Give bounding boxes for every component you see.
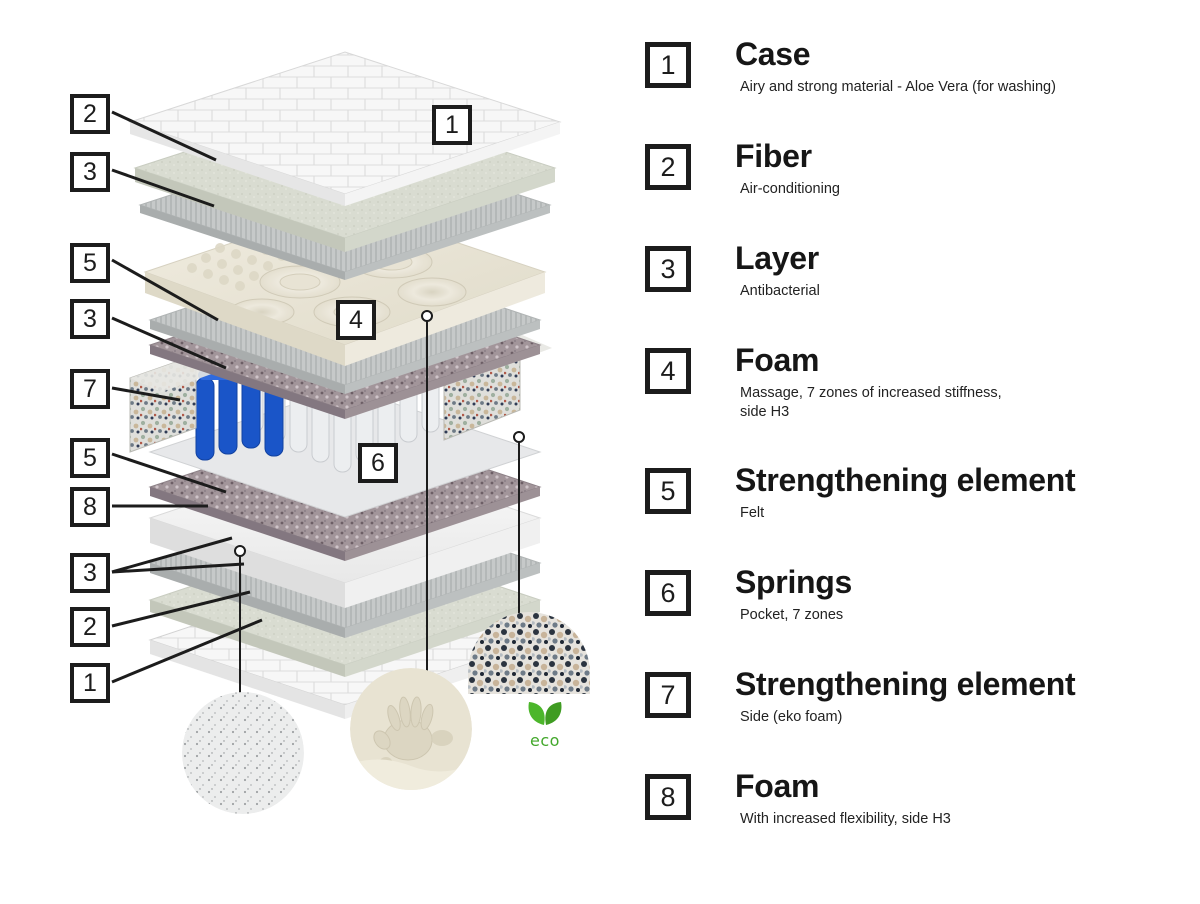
legend-number-4: 4 xyxy=(645,348,691,394)
legend-sub-strengthening-side: Side (eko foam) xyxy=(740,708,1190,728)
callout-5-felt-upper: 5 xyxy=(70,243,110,283)
legend-title-strengthening-side: Strengthening element xyxy=(735,668,1190,702)
legend-item-fiber[interactable]: 2 Fiber Air-conditioning xyxy=(645,140,1190,232)
callout-5-felt-lower: 5 xyxy=(70,438,110,478)
callout-3-layer-top: 3 xyxy=(70,152,110,192)
legend-title-fiber: Fiber xyxy=(735,140,1190,174)
callout-1-case-bottom: 1 xyxy=(70,663,110,703)
legend-sub-foam-massage: Massage, 7 zones of increased stiffness,… xyxy=(740,384,1190,423)
legend-item-foam-massage[interactable]: 4 Foam Massage, 7 zones of increased sti… xyxy=(645,344,1190,454)
legend-list: 1 Case Airy and strong material - Aloe V… xyxy=(645,38,1190,872)
callout-3-layer-upper: 3 xyxy=(70,299,110,339)
legend-sub-layer: Antibacterial xyxy=(740,282,1190,302)
legend-sub-case: Airy and strong material - Aloe Vera (fo… xyxy=(740,78,1190,98)
legend-title-foam-massage: Foam xyxy=(735,344,1190,378)
legend-number-2: 2 xyxy=(645,144,691,190)
callout-2-fiber-top: 2 xyxy=(70,94,110,134)
callout-3-layer-lower: 3 xyxy=(70,553,110,593)
legend-item-case[interactable]: 1 Case Airy and strong material - Aloe V… xyxy=(645,38,1190,130)
callout-8-foam-white: 8 xyxy=(70,487,110,527)
callout-4-foam-inline: 4 xyxy=(336,300,376,340)
legend-title-foam-flexible: Foam xyxy=(735,770,1190,804)
detail-memory-foam-handprint-swatch xyxy=(350,668,472,790)
legend-sub-fiber: Air-conditioning xyxy=(740,180,1190,200)
legend-number-8: 8 xyxy=(645,774,691,820)
eco-leaf-icon xyxy=(523,700,567,726)
mattress-exploded-illustration: eco 2 3 5 3 7 5 8 3 2 1 1 4 6 xyxy=(0,0,630,899)
legend-number-6: 6 xyxy=(645,570,691,616)
legend-item-strengthening-felt[interactable]: 5 Strengthening element Felt xyxy=(645,464,1190,556)
callout-2-fiber-bottom: 2 xyxy=(70,607,110,647)
legend-sub-foam-flexible: With increased flexibility, side H3 xyxy=(740,810,1190,830)
legend-item-strengthening-side[interactable]: 7 Strengthening element Side (eko foam) xyxy=(645,668,1190,760)
legend-sub-strengthening-felt: Felt xyxy=(740,504,1190,524)
legend-number-7: 7 xyxy=(645,672,691,718)
callout-1-case-inline: 1 xyxy=(432,105,472,145)
callout-7-eko-foam-side: 7 xyxy=(70,369,110,409)
legend-number-5: 5 xyxy=(645,468,691,514)
legend-title-springs: Springs xyxy=(735,566,1190,600)
legend-item-foam-flexible[interactable]: 8 Foam With increased flexibility, side … xyxy=(645,770,1190,862)
legend-number-3: 3 xyxy=(645,246,691,292)
legend-sub-springs: Pocket, 7 zones xyxy=(740,606,1190,626)
detail-white-foam-swatch xyxy=(182,692,304,814)
eco-badge: eco xyxy=(515,700,575,746)
legend-number-1: 1 xyxy=(645,42,691,88)
legend-item-springs[interactable]: 6 Springs Pocket, 7 zones xyxy=(645,566,1190,658)
eco-label: eco xyxy=(515,731,575,750)
legend-item-layer[interactable]: 3 Layer Antibacterial xyxy=(645,242,1190,334)
legend-title-case: Case xyxy=(735,38,1190,72)
legend-title-layer: Layer xyxy=(735,242,1190,276)
callout-6-springs-inline: 6 xyxy=(358,443,398,483)
legend-title-strengthening-felt: Strengthening element xyxy=(735,464,1190,498)
